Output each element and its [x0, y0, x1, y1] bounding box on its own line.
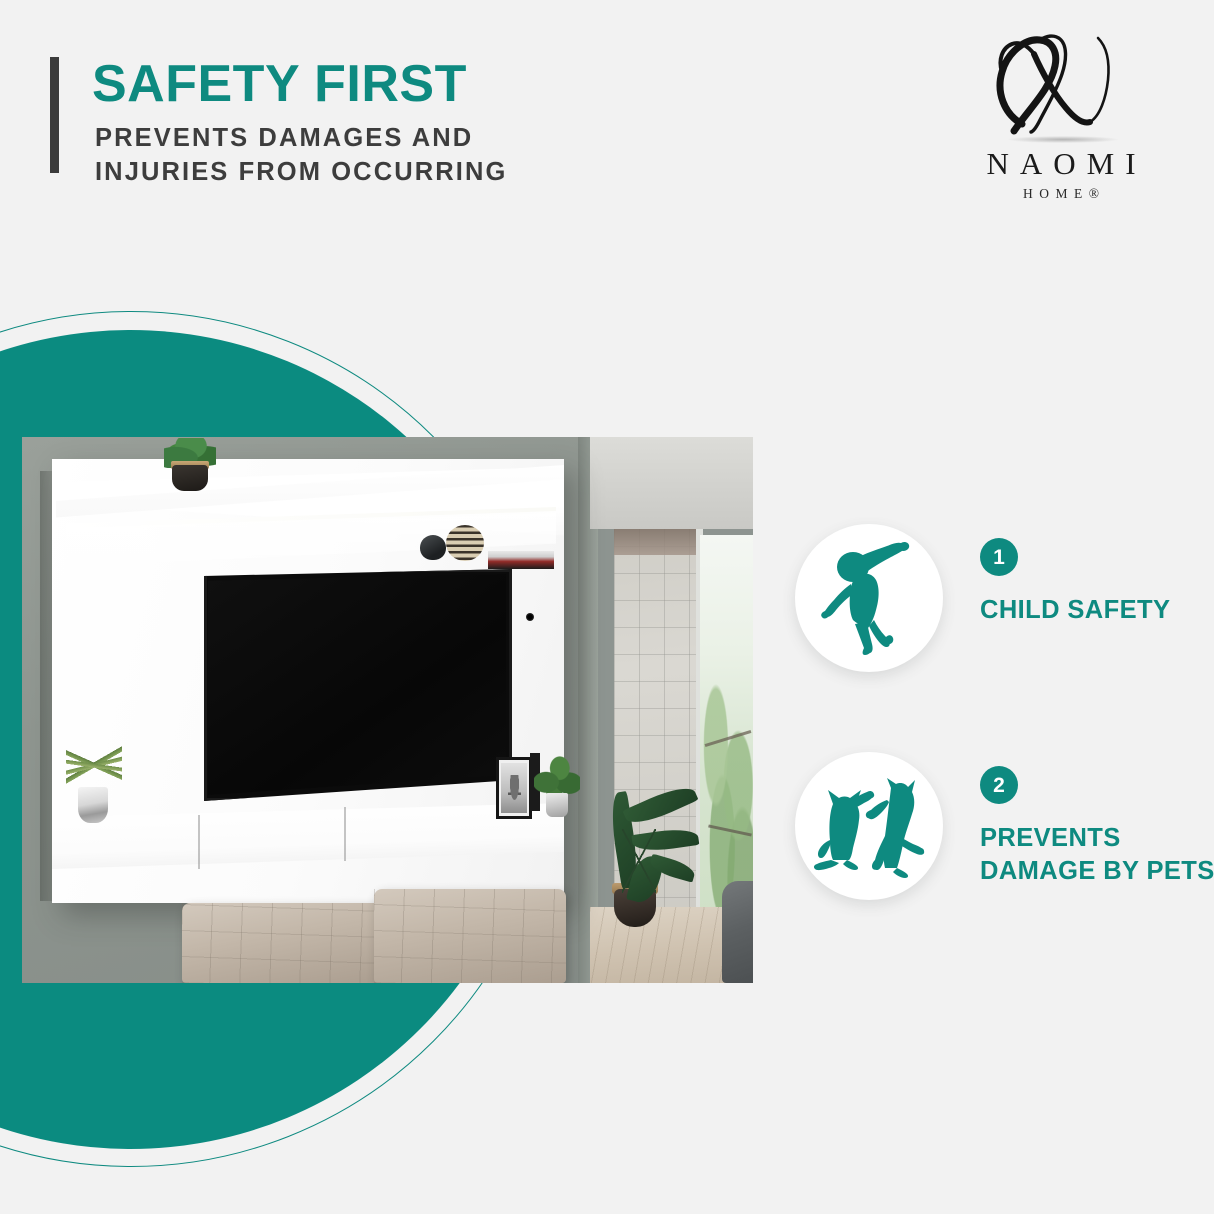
logo-shadow — [1008, 136, 1118, 143]
photo-cabinet-seam — [344, 807, 346, 861]
photo-cabinet-seam — [198, 815, 200, 869]
feature-label: CHILD SAFETY — [980, 594, 1214, 627]
header-accent-bar — [50, 57, 59, 173]
brand-logo: NAOMI HOME® — [930, 28, 1192, 208]
feature-text-block: 2 PREVENTS DAMAGE BY PETS — [980, 766, 1214, 887]
logo-wordmark: NAOMI — [930, 146, 1192, 182]
photo-striped-vase — [446, 525, 484, 561]
photo-book-stack — [488, 551, 554, 569]
feature-label: PREVENTS DAMAGE BY PETS — [980, 822, 1214, 887]
photo-shelf-plant-pot — [172, 465, 208, 491]
photo-dark-vase — [420, 535, 446, 560]
logo-subwordmark: HOME® — [930, 186, 1192, 202]
feature-item-prevents-damage-by-pets: 2 PREVENTS DAMAGE BY PETS — [795, 752, 1214, 902]
infographic-canvas: SAFETY FIRST PREVENTS DAMAGES AND INJURI… — [0, 0, 1214, 1214]
page-subtitle: PREVENTS DAMAGES AND INJURIES FROM OCCUR… — [95, 122, 507, 189]
feature-number-badge: 2 — [980, 766, 1018, 804]
photo-television-screen — [208, 574, 506, 795]
photo-stone-wall-top — [614, 529, 700, 555]
product-photo — [22, 437, 753, 983]
photo-panel-sensor — [526, 613, 534, 621]
photo-ottoman-tufting — [374, 889, 566, 983]
photo-snake-plant-pot — [78, 787, 108, 823]
cat-and-dog-icon — [811, 774, 927, 878]
photo-tall-plant-stems — [622, 829, 656, 893]
page-title: SAFETY FIRST — [92, 58, 467, 110]
feature-number-badge: 1 — [980, 538, 1018, 576]
photo-snake-plant-leaves — [66, 737, 122, 793]
photo-ceiling — [590, 437, 753, 529]
photo-armchair — [722, 881, 753, 983]
feature-text-block: 1 CHILD SAFETY — [980, 538, 1214, 627]
feature-item-child-safety: 1 CHILD SAFETY — [795, 524, 1214, 674]
feature-icon-container — [795, 524, 943, 672]
photo-side-plant-pot — [546, 793, 568, 817]
jumping-child-icon — [817, 540, 921, 656]
photo-picture-frame-tree — [508, 775, 521, 807]
feature-icon-container — [795, 752, 943, 900]
photo-ottoman-tufting — [182, 903, 382, 983]
naomi-monogram-icon — [930, 28, 1192, 136]
header: SAFETY FIRST PREVENTS DAMAGES AND INJURI… — [0, 0, 760, 220]
